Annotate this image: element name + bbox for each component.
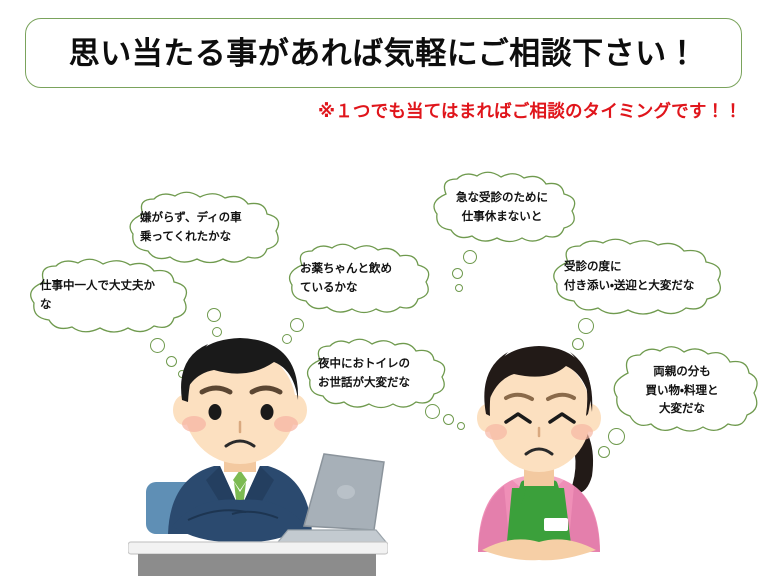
page-title: 思い当たる事があれば気軽にご相談下さい！ [69, 38, 698, 69]
subtitle-note: ※１つでも当てはまればご相談のタイミングです！！ [318, 98, 750, 123]
thought-bubble-escort-transport: 受診の度に 付き添い・送迎と大変だな [540, 238, 738, 316]
bubble-tail-dot [455, 284, 463, 292]
bubble-tail-dot [452, 268, 463, 279]
bubble-tail-dot [578, 318, 594, 334]
illustration-worried-woman-in-apron [452, 336, 628, 576]
thought-bubble-sudden-hospital-visit: 急な受診のために 仕事休まないと [422, 171, 582, 245]
poster-canvas: 思い当たる事があれば気軽にご相談下さい！ ※１つでも当てはまればご相談のタイミン… [0, 0, 768, 576]
thought-bubble-medicine: お薬ちゃんと飲め ているかな [278, 243, 436, 315]
bubble-tail-dot [207, 308, 221, 322]
bubble-tail-dot [463, 250, 477, 264]
thought-bubble-work-alone: 仕事中一人で大丈夫か な [18, 258, 194, 334]
illustration-worried-businessman-at-laptop [128, 330, 388, 576]
bubble-tail-dot [425, 404, 440, 419]
thought-bubble-day-service-car: 嫌がらず、ディの車 乗ってくれたかな [118, 191, 286, 265]
title-banner: 思い当たる事があれば気軽にご相談下さい！ [25, 18, 742, 88]
